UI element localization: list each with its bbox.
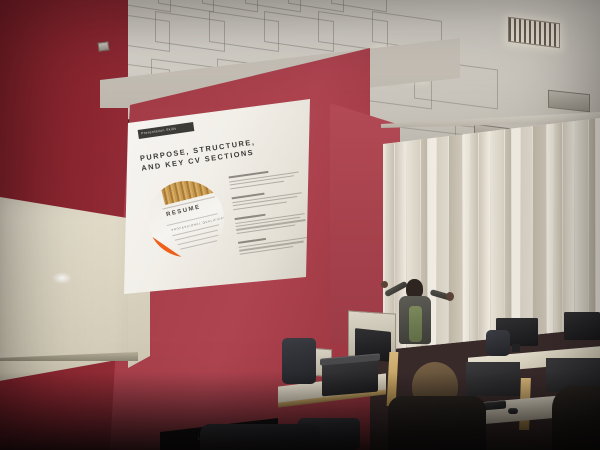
blind-slat[interactable]	[470, 118, 478, 350]
blind-slat[interactable]	[505, 118, 511, 350]
monitor-back-panel	[466, 362, 520, 396]
blind-slat[interactable]	[463, 118, 469, 350]
chair-foreground[interactable]	[200, 424, 320, 450]
student-body	[388, 396, 486, 450]
blind-slat[interactable]	[554, 118, 562, 350]
slide-badge: Presentation Skills	[138, 122, 195, 139]
blind-slat[interactable]	[512, 118, 520, 350]
mouse	[508, 408, 518, 414]
slide-badge-label: Presentation Skills	[138, 122, 194, 136]
chair[interactable]	[282, 338, 316, 384]
student-right-body	[552, 386, 600, 450]
blind-slat[interactable]	[437, 118, 448, 350]
presenter-top	[409, 306, 422, 342]
slide-resume-image: RESUME PROFESSIONAL QUALIFICATIONS	[143, 176, 229, 262]
blind-slat[interactable]	[521, 118, 532, 350]
slide-title: PURPOSE, STRUCTURE, AND KEY CV SECTIONS	[139, 132, 292, 173]
blind-slat[interactable]	[491, 118, 504, 350]
wall-fixture-icon	[97, 41, 109, 51]
blind-slat[interactable]	[547, 118, 553, 350]
chair[interactable]	[486, 330, 510, 356]
monitor	[564, 312, 600, 340]
slide-body-text	[229, 166, 312, 256]
presenter-left-hand	[381, 281, 388, 288]
monitor-stand	[512, 344, 520, 352]
blind-slat[interactable]	[533, 118, 546, 350]
blind-slat[interactable]	[449, 118, 462, 350]
whiteboard-glare	[52, 272, 72, 284]
projection-screen: Presentation Skills PURPOSE, STRUCTURE, …	[124, 99, 310, 294]
classroom-photo: Presentation Skills PURPOSE, STRUCTURE, …	[0, 0, 600, 450]
presenter-right-hand	[446, 292, 454, 301]
blind-slat[interactable]	[479, 118, 490, 350]
